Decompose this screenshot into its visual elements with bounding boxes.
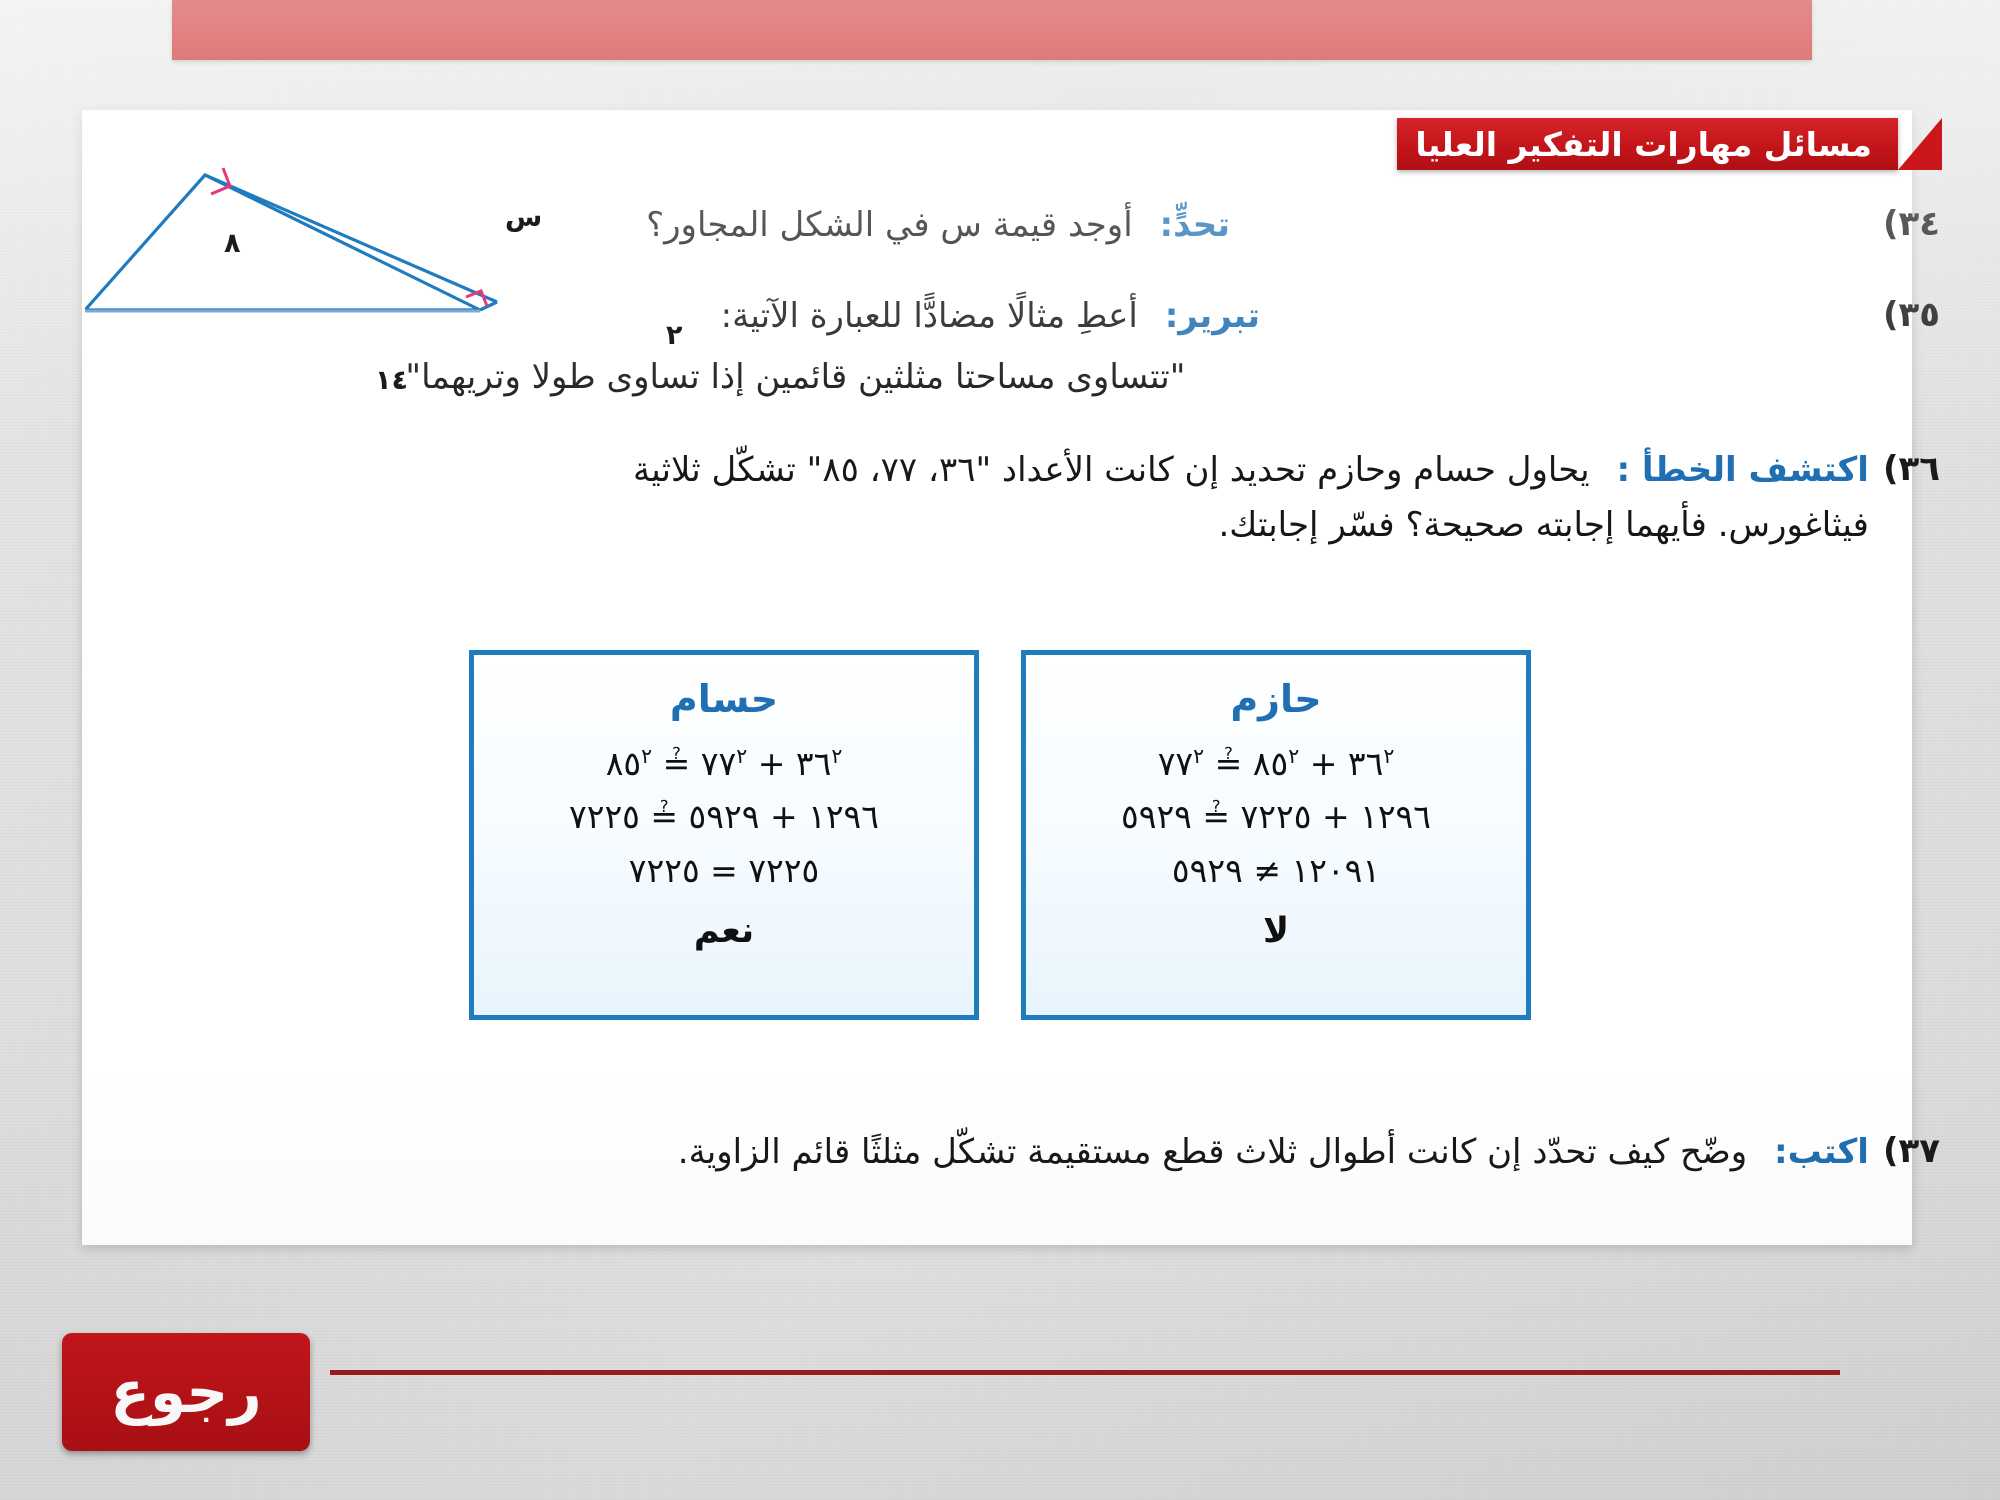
triangle-figure: ٨ س ٢ ١٤ <box>85 150 625 400</box>
top-red-bar <box>172 0 1812 60</box>
problem-37-text: وضّح كيف تحدّد إن كانت أطوال ثلاث قطع مس… <box>678 1132 1747 1172</box>
problem-36-tag: اكتشف الخطأ : <box>1600 450 1868 490</box>
slide-background: مسائل مهارات التفكير العليا ٨ س ٢ ١٤ ٣٤)… <box>0 0 2000 1500</box>
figure-label-left-side: ٨ <box>224 228 240 259</box>
problem-36: ٣٦) اكتشف الخطأ : يحاول حسام وحازم تحديد… <box>200 445 1940 551</box>
figure-label-right-side: ٢ <box>666 320 682 351</box>
problem-34-tag: تحدٍّ: <box>1143 205 1230 245</box>
problem-35-text: أعطِ مثالًا مضادًّا للعبارة الآتية: <box>721 296 1138 336</box>
solution-box-hazem-line-2: ١٢٩٦ + ٧٢٢٥ ≟ ٥٩٢٩ <box>1121 790 1431 843</box>
short-side-segment <box>480 302 497 310</box>
figure-label-unknown-x: س <box>505 202 542 233</box>
solution-box-hossam: حسام ٣٦٢ + ٧٧٢ ≟ ٨٥٢ ١٢٩٦ + ٥٩٢٩ ≟ ٧٢٢٥ … <box>469 650 979 1020</box>
solution-box-hossam-line-1: ٣٦٢ + ٧٧٢ ≟ ٨٥٢ <box>606 737 843 790</box>
banner-tail-shape <box>1898 118 1942 170</box>
problem-35-tag: تبرير: <box>1149 296 1260 336</box>
footer-divider <box>330 1370 1840 1375</box>
hypotenuse-segment <box>205 175 497 302</box>
back-button[interactable]: رجوع <box>62 1333 310 1451</box>
solution-box-hossam-name: حسام <box>670 677 778 721</box>
triangle-svg <box>85 150 625 400</box>
solution-box-hazem-line-1: ٣٦٢ + ٨٥٢ ≟ ٧٧٢ <box>1158 737 1395 790</box>
problem-35-number: ٣٥) <box>1869 291 1940 340</box>
hots-banner: مسائل مهارات التفكير العليا <box>1397 118 1942 170</box>
solution-box-group: حازم ٣٦٢ + ٨٥٢ ≟ ٧٧٢ ١٢٩٦ + ٧٢٢٥ ≟ ٥٩٢٩ … <box>0 650 2000 1020</box>
problem-37: ٣٧) اكتب: وضّح كيف تحدّد إن كانت أطوال ث… <box>200 1127 1940 1178</box>
problem-36-body: اكتشف الخطأ : يحاول حسام وحازم تحديد إن … <box>200 445 1869 551</box>
problem-36-text-line2: فيثاغورس. فأيهما إجابته صحيحة؟ فسّر إجاب… <box>200 500 1869 551</box>
solution-box-hossam-line-3: ٧٢٢٥ = ٧٢٢٥ <box>629 844 819 897</box>
problem-34-text: أوجد قيمة س في الشكل المجاور؟ <box>646 205 1133 245</box>
problem-34-number: ٣٤) <box>1869 200 1940 249</box>
solution-box-hossam-line-2: ١٢٩٦ + ٥٩٢٩ ≟ ٧٢٢٥ <box>569 790 879 843</box>
problem-37-number: ٣٧) <box>1869 1127 1940 1176</box>
problem-37-tag: اكتب: <box>1758 1132 1869 1172</box>
problem-37-body: اكتب: وضّح كيف تحدّد إن كانت أطوال ثلاث … <box>200 1127 1869 1178</box>
banner-title: مسائل مهارات التفكير العليا <box>1397 118 1898 170</box>
solution-box-hazem: حازم ٣٦٢ + ٨٥٢ ≟ ٧٧٢ ١٢٩٦ + ٧٢٢٥ ≟ ٥٩٢٩ … <box>1021 650 1531 1020</box>
solution-box-hazem-name: حازم <box>1230 677 1321 721</box>
outer-triangle-shape <box>85 175 480 310</box>
solution-box-hazem-answer: لا <box>1263 911 1289 951</box>
solution-box-hazem-line-3: ١٢٠٩١ ≠ ٥٩٢٩ <box>1172 844 1380 897</box>
problem-36-text: يحاول حسام وحازم تحديد إن كانت الأعداد "… <box>633 450 1590 490</box>
solution-box-hossam-answer: نعم <box>694 911 754 951</box>
figure-label-base: ١٤ <box>375 365 408 396</box>
problem-36-number: ٣٦) <box>1869 445 1940 494</box>
